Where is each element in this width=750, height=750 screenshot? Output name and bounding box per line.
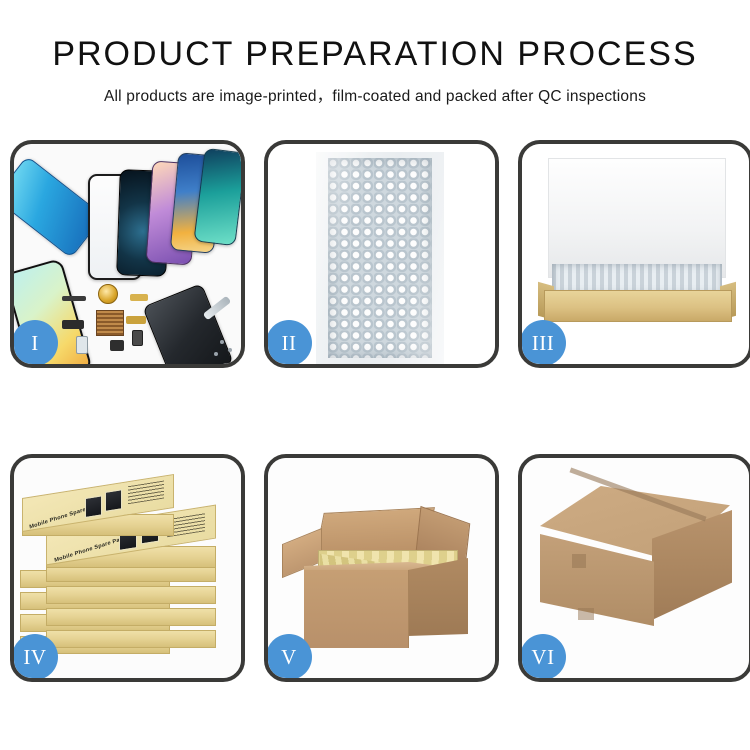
camera-module-part [76, 336, 88, 354]
carton-front-panel [304, 570, 409, 648]
screw-part-2 [228, 348, 232, 352]
process-step-panel-5: V [264, 454, 499, 682]
box-fine-print-1 [128, 481, 164, 505]
inner-box-lid [548, 158, 726, 278]
step-number-badge-1: I [12, 320, 58, 366]
battery-part [132, 330, 143, 346]
flex-cable-part-3 [130, 294, 148, 301]
process-step-panel-2: II [264, 140, 499, 368]
flex-cable-part-1 [62, 320, 84, 329]
gold-coil-part-icon [98, 284, 118, 304]
screw-part-3 [214, 352, 218, 356]
screw-part-1 [220, 340, 224, 344]
step-number-badge-5: V [266, 634, 312, 680]
step-number-badge-2: II [266, 320, 312, 366]
plastic-sheen-overlay [316, 152, 444, 364]
speaker-part [110, 340, 124, 351]
page-title: PRODUCT PREPARATION PROCESS [0, 0, 750, 71]
box-screen-image-1a [85, 495, 102, 518]
step-number-badge-4: IV [12, 634, 58, 680]
copper-mesh-part [96, 310, 124, 336]
bubble-wrap-pouch [316, 152, 444, 364]
process-step-panel-3: III [518, 140, 750, 368]
header: PRODUCT PREPARATION PROCESS All products… [0, 0, 750, 106]
antenna-bar-part [62, 296, 86, 301]
stacked-box-slab-7 [46, 586, 216, 604]
process-step-grid: I II III [10, 140, 740, 682]
carton-tape-mark-1 [572, 554, 586, 568]
process-step-panel-4: Mobile Phone Spare Parts Mobile Phone Sp… [10, 454, 245, 682]
flex-cable-part-2 [126, 316, 146, 324]
process-step-panel-1: I [10, 140, 245, 368]
process-step-panel-6: VI [518, 454, 750, 682]
box-screen-image-1b [105, 489, 122, 512]
kraft-box-front [544, 290, 732, 322]
page-subtitle: All products are image-printed，film-coat… [0, 71, 750, 106]
stacked-box-slab-5 [46, 630, 216, 648]
carton-tape-mark-2 [578, 608, 594, 620]
carton-side-panel [408, 558, 468, 636]
step-number-badge-6: VI [520, 634, 566, 680]
stacked-box-slab-6 [46, 608, 216, 626]
step-number-badge-3: III [520, 320, 566, 366]
product-preparation-infographic: PRODUCT PREPARATION PROCESS All products… [0, 0, 750, 750]
